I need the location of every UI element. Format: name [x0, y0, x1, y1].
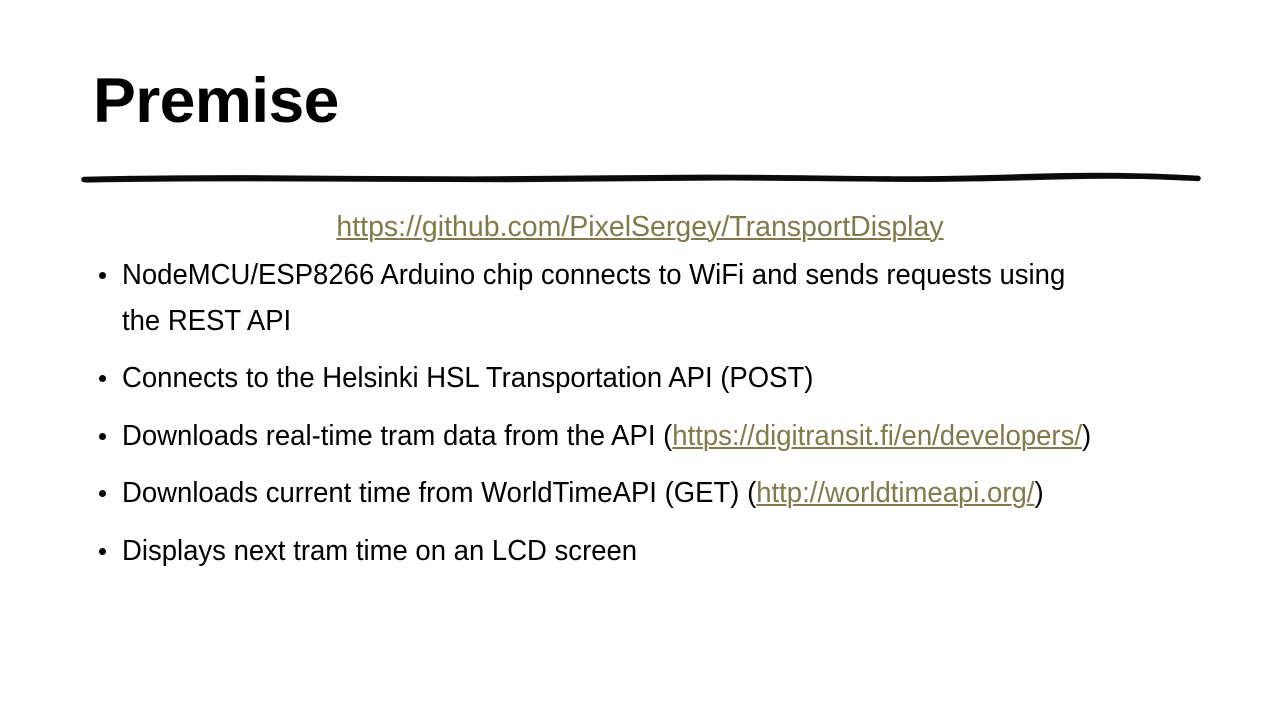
bullet-text-tram-data-suffix: ) — [1082, 420, 1091, 452]
list-item: Downloads current time from WorldTimeAPI… — [0, 471, 1280, 517]
bullet-dot-icon — [99, 548, 106, 555]
bullet-dot-icon — [99, 490, 106, 497]
bullet-dot-icon — [99, 272, 106, 279]
link-github-repo[interactable]: https://github.com/PixelSergey/Transport… — [336, 211, 943, 243]
bullet-text-nodemcu: NodeMCU/ESP8266 Arduino chip connects to… — [122, 253, 1095, 344]
list-item: Displays next tram time on an LCD screen — [0, 529, 1280, 575]
bullet-dot-icon — [99, 375, 106, 382]
list-item: Connects to the Helsinki HSL Transportat… — [0, 356, 1280, 402]
link-worldtimeapi[interactable]: http://worldtimeapi.org/ — [756, 477, 1034, 509]
page-title: Premise — [93, 66, 339, 136]
bullet-text-hsl: Connects to the Helsinki HSL Transportat… — [122, 356, 1095, 402]
bullet-text-worldtime-suffix: ) — [1034, 477, 1043, 509]
slide-canvas: Premise https://github.com/PixelSergey/T… — [0, 0, 1280, 720]
link-digitransit-developers[interactable]: https://digitransit.fi/en/developers/ — [672, 420, 1082, 452]
list-item: NodeMCU/ESP8266 Arduino chip connects to… — [0, 253, 1280, 344]
list-item: Downloads real-time tram data from the A… — [0, 414, 1280, 460]
bullet-list: NodeMCU/ESP8266 Arduino chip connects to… — [0, 253, 1280, 574]
bullet-text-worldtime: Downloads current time from WorldTimeAPI… — [122, 471, 1095, 517]
bullet-text-tram-data-prefix: Downloads real-time tram data from the A… — [122, 420, 672, 452]
bullet-dot-icon — [99, 433, 106, 440]
bullet-text-tram-data: Downloads real-time tram data from the A… — [122, 414, 1095, 460]
hand-drawn-divider-line — [80, 163, 1202, 189]
bullet-text-worldtime-prefix: Downloads current time from WorldTimeAPI… — [122, 477, 756, 509]
slide-body: https://github.com/PixelSergey/Transport… — [0, 207, 1280, 574]
header-link-row: https://github.com/PixelSergey/Transport… — [0, 207, 1280, 247]
bullet-text-lcd: Displays next tram time on an LCD screen — [122, 529, 1095, 575]
